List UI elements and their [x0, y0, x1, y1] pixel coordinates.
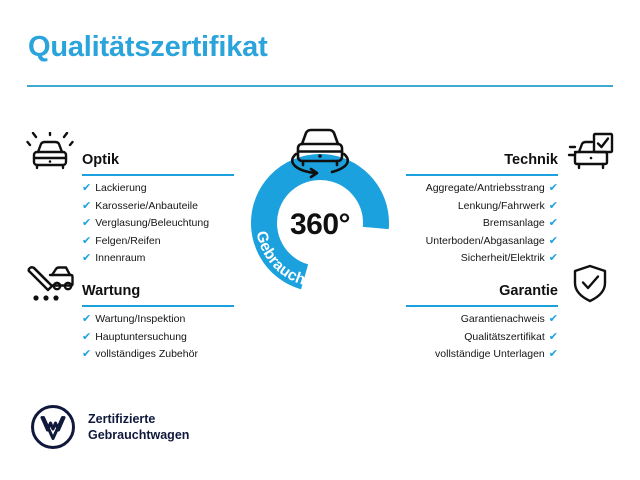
car-shine-icon [26, 132, 74, 174]
list-item-label: vollständige Unterlagen [435, 348, 545, 360]
car-wrench-icon [26, 263, 74, 305]
header-divider [27, 85, 613, 87]
section-wartung-title: Wartung [82, 283, 140, 299]
list-item: ✔Verglasung/Beleuchtung [82, 215, 234, 233]
footer-lockup: Zertifizierte Gebrauchtwagen [30, 404, 189, 450]
check-icon: ✔ [549, 235, 558, 247]
section-garantie-list: Garantienachweis✔ Qualitätszertifikat✔ v… [406, 311, 558, 364]
car-checkbox-icon [566, 132, 614, 174]
section-optik-title: Optik [82, 152, 119, 168]
list-item: Lenkung/Fahrwerk✔ [406, 198, 558, 216]
check-icon: ✔ [82, 217, 91, 229]
section-optik-list: ✔Lackierung ✔Karosserie/Anbauteile ✔Verg… [82, 180, 234, 268]
vw-logo [30, 404, 76, 450]
list-item-label: Hauptuntersuchung [95, 331, 187, 343]
list-item-label: Bremsanlage [483, 217, 545, 229]
list-item: ✔Wartung/Inspektion [82, 311, 234, 329]
footer-text: Zertifizierte Gebrauchtwagen [88, 411, 189, 444]
section-wartung-header: Wartung [26, 263, 234, 309]
list-item-label: Karosserie/Anbauteile [95, 200, 198, 212]
list-item-label: vollständiges Zubehör [95, 348, 198, 360]
check-icon: ✔ [82, 200, 91, 212]
list-item: ✔Karosserie/Anbauteile [82, 198, 234, 216]
list-item-label: Wartung/Inspektion [95, 313, 185, 325]
list-item: ✔Lackierung [82, 180, 234, 198]
list-item: Garantienachweis✔ [406, 311, 558, 329]
list-item: ✔Felgen/Reifen [82, 233, 234, 251]
list-item: ✔Hauptuntersuchung [82, 329, 234, 347]
section-optik-header: Optik [26, 132, 234, 178]
check-icon: ✔ [549, 217, 558, 229]
shield-check-icon [566, 263, 614, 305]
list-item-label: Felgen/Reifen [95, 235, 160, 247]
check-icon: ✔ [549, 200, 558, 212]
check-icon: ✔ [82, 313, 91, 325]
list-item-label: Lenkung/Fahrwerk [458, 200, 545, 212]
section-technik: Technik Aggregate/Antriebsstrang✔ Lenkun… [406, 132, 614, 268]
section-technik-title: Technik [504, 152, 558, 168]
list-item: Bremsanlage✔ [406, 215, 558, 233]
car-rotate-icon [282, 122, 358, 184]
section-technik-underline [406, 174, 558, 176]
list-item-label: Lackierung [95, 182, 146, 194]
check-icon: ✔ [549, 182, 558, 194]
certificate-page: Qualitätszertifikat Optik [0, 0, 640, 480]
section-garantie-underline [406, 305, 558, 307]
section-garantie-title: Garantie [499, 283, 558, 299]
list-item-label: Verglasung/Beleuchtung [95, 217, 209, 229]
list-item: Aggregate/Antriebsstrang✔ [406, 180, 558, 198]
check-icon: ✔ [549, 331, 558, 343]
list-item: Qualitätszertifikat✔ [406, 329, 558, 347]
section-technik-list: Aggregate/Antriebsstrang✔ Lenkung/Fahrwe… [406, 180, 558, 268]
list-item-label: Aggregate/Antriebsstrang [426, 182, 545, 194]
list-item-label: Unterboden/Abgasanlage [426, 235, 545, 247]
footer-line-2: Gebrauchtwagen [88, 427, 189, 444]
check-icon: ✔ [82, 182, 91, 194]
section-wartung: Wartung ✔Wartung/Inspektion ✔Hauptunters… [26, 263, 234, 364]
check-icon: ✔ [82, 235, 91, 247]
check-icon: ✔ [549, 348, 558, 360]
check-icon: ✔ [549, 313, 558, 325]
section-wartung-underline [82, 305, 234, 307]
section-garantie-header: Garantie [406, 263, 614, 309]
footer-line-1: Zertifizierte [88, 411, 189, 428]
badge-value: 360° [232, 208, 408, 242]
section-optik-underline [82, 174, 234, 176]
section-wartung-list: ✔Wartung/Inspektion ✔Hauptuntersuchung ✔… [82, 311, 234, 364]
list-item: Unterboden/Abgasanlage✔ [406, 233, 558, 251]
badge-360-check: Gebrauchtwagen-Check 360° [232, 152, 408, 294]
list-item: ✔vollständiges Zubehör [82, 346, 234, 364]
list-item-label: Garantienachweis [461, 313, 545, 325]
section-technik-header: Technik [406, 132, 614, 178]
section-garantie: Garantie Garantienachweis✔ Qualitätszert… [406, 263, 614, 364]
check-icon: ✔ [82, 331, 91, 343]
check-icon: ✔ [82, 348, 91, 360]
section-optik: Optik ✔Lackierung ✔Karosserie/Anbauteile… [26, 132, 234, 268]
list-item: vollständige Unterlagen✔ [406, 346, 558, 364]
list-item-label: Qualitätszertifikat [464, 331, 545, 343]
page-title: Qualitätszertifikat [28, 31, 268, 64]
